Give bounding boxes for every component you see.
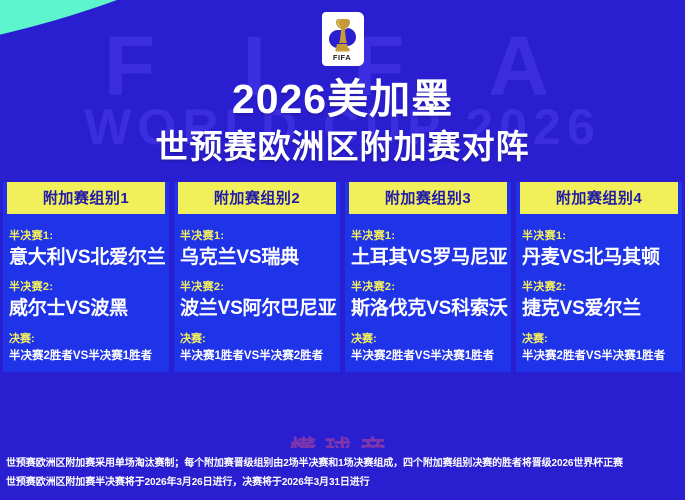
semifinal-1-match: 乌克兰VS瑞典	[180, 245, 334, 271]
semifinal-2-match: 斯洛伐克VS科索沃	[351, 296, 505, 322]
fifa-world-cup-2026-logo-icon: FIFA	[320, 8, 366, 70]
group-card-3[interactable]: 附加赛组别3 半决赛1: 土耳其VS罗马尼亚 半决赛2: 斯洛伐克VS科索沃 决…	[345, 182, 511, 372]
page-subtitle: 世预赛欧洲区附加赛对阵	[0, 124, 685, 170]
semifinal-2-match: 威尔士VS波黑	[9, 296, 163, 322]
final-match: 半决赛2胜者VS半决赛1胜者	[9, 348, 163, 364]
semifinal-1-label: 半决赛1:	[522, 227, 676, 243]
group-body: 半决赛1: 丹麦VS北马其顿 半决赛2: 捷克VS爱尔兰 决赛: 半决赛2胜者V…	[516, 214, 682, 364]
semifinal-1-match: 意大利VS北爱尔兰	[9, 245, 163, 271]
final-match: 半决赛2胜者VS半决赛1胜者	[351, 348, 505, 364]
group-title: 附加赛组别2	[178, 182, 336, 214]
group-card-2[interactable]: 附加赛组别2 半决赛1: 乌克兰VS瑞典 半决赛2: 波兰VS阿尔巴尼亚 决赛:…	[174, 182, 340, 372]
semifinal-1-label: 半决赛1:	[9, 227, 163, 243]
semifinal-2-label: 半决赛2:	[351, 278, 505, 294]
semifinal-2-label: 半决赛2:	[522, 278, 676, 294]
group-title: 附加赛组别4	[520, 182, 678, 214]
svg-text:FIFA: FIFA	[332, 53, 350, 62]
group-title: 附加赛组别1	[7, 182, 165, 214]
semifinal-1-match: 丹麦VS北马其顿	[522, 245, 676, 271]
final-match: 半决赛1胜者VS半决赛2胜者	[180, 348, 334, 364]
final-label: 决赛:	[9, 330, 163, 346]
group-body: 半决赛1: 土耳其VS罗马尼亚 半决赛2: 斯洛伐克VS科索沃 决赛: 半决赛2…	[345, 214, 511, 364]
playoff-groups: 附加赛组别1 半决赛1: 意大利VS北爱尔兰 半决赛2: 威尔士VS波黑 决赛:…	[0, 170, 685, 372]
final-label: 决赛:	[351, 330, 505, 346]
footer-notes: 世预赛欧洲区附加赛采用单场淘汰赛制；每个附加赛晋级组别由2场半决赛和1场决赛组成…	[0, 448, 685, 500]
semifinal-2-label: 半决赛2:	[180, 278, 334, 294]
semifinal-1-label: 半决赛1:	[180, 227, 334, 243]
final-label: 决赛:	[522, 330, 676, 346]
group-body: 半决赛1: 意大利VS北爱尔兰 半决赛2: 威尔士VS波黑 决赛: 半决赛2胜者…	[3, 214, 169, 364]
poster-header: FIFA 2026美加墨 世预赛欧洲区附加赛对阵	[0, 0, 685, 170]
group-title: 附加赛组别3	[349, 182, 507, 214]
group-body: 半决赛1: 乌克兰VS瑞典 半决赛2: 波兰VS阿尔巴尼亚 决赛: 半决赛1胜者…	[174, 214, 340, 364]
footer-note-1: 世预赛欧洲区附加赛采用单场淘汰赛制；每个附加赛晋级组别由2场半决赛和1场决赛组成…	[6, 454, 679, 473]
poster-canvas: F I F A WORLD CUP 2026 FIFA	[0, 0, 685, 500]
final-match: 半决赛2胜者VS半决赛1胜者	[522, 348, 676, 364]
group-card-1[interactable]: 附加赛组别1 半决赛1: 意大利VS北爱尔兰 半决赛2: 威尔士VS波黑 决赛:…	[3, 182, 169, 372]
logo-container: FIFA	[0, 8, 685, 70]
semifinal-2-label: 半决赛2:	[9, 278, 163, 294]
semifinal-2-match: 波兰VS阿尔巴尼亚	[180, 296, 334, 322]
group-card-4[interactable]: 附加赛组别4 半决赛1: 丹麦VS北马其顿 半决赛2: 捷克VS爱尔兰 决赛: …	[516, 182, 682, 372]
page-title: 2026美加墨	[0, 74, 685, 124]
footer-note-2: 世预赛欧洲区附加赛半决赛将于2026年3月26日进行，决赛将于2026年3月31…	[6, 473, 679, 492]
final-label: 决赛:	[180, 330, 334, 346]
semifinal-1-match: 土耳其VS罗马尼亚	[351, 245, 505, 271]
semifinal-2-match: 捷克VS爱尔兰	[522, 296, 676, 322]
semifinal-1-label: 半决赛1:	[351, 227, 505, 243]
